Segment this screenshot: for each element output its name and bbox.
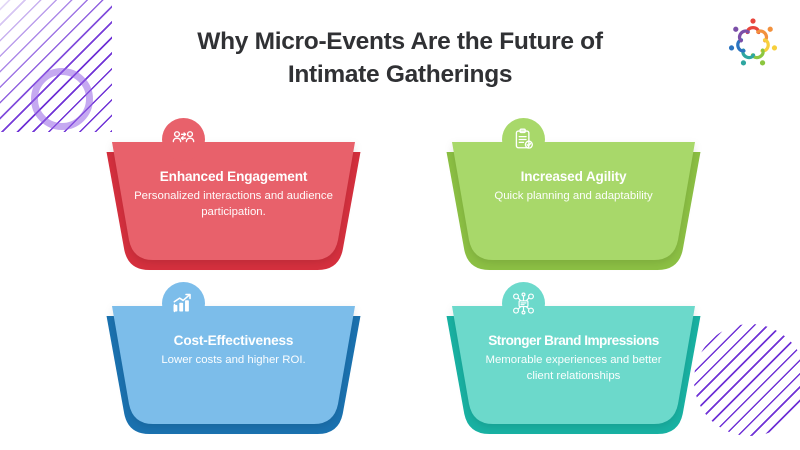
card-icon-badge — [502, 118, 545, 161]
infographic-canvas: Why Micro-Events Are the Future of Intim… — [0, 0, 800, 450]
card-description: Personalized interactions and audience p… — [132, 189, 335, 220]
page-title-line-2: Intimate Gatherings — [0, 59, 800, 92]
card-description: Quick planning and adaptability — [472, 189, 675, 205]
feature-card-increased-agility[interactable]: Increased Agility Quick planning and ada… — [452, 142, 695, 264]
card-icon-badge — [162, 282, 205, 325]
card-title: Enhanced Engagement — [132, 169, 335, 185]
clipboard-check-icon — [512, 128, 535, 151]
two-people-exchange-icon — [172, 128, 195, 151]
feature-card-cost-effectiveness[interactable]: Cost-Effectiveness Lower costs and highe… — [112, 306, 355, 428]
page-title: Why Micro-Events Are the Future of Intim… — [0, 26, 800, 91]
brand-network-icon — [512, 292, 535, 315]
page-title-line-1: Why Micro-Events Are the Future of — [0, 26, 800, 59]
card-description: Lower costs and higher ROI. — [132, 353, 335, 369]
card-title: Stronger Brand Impressions — [472, 333, 675, 349]
card-text: Increased Agility Quick planning and ada… — [452, 169, 695, 205]
card-icon-badge — [502, 282, 545, 325]
feature-card-stronger-brand-impressions[interactable]: Stronger Brand Impressions Memorable exp… — [452, 306, 695, 428]
card-text: Cost-Effectiveness Lower costs and highe… — [112, 333, 355, 369]
card-description: Memorable experiences and better client … — [472, 353, 675, 384]
card-icon-badge — [162, 118, 205, 161]
card-text: Stronger Brand Impressions Memorable exp… — [452, 333, 695, 385]
growth-bar-chart-icon — [172, 292, 195, 315]
diagonal-hatch-circle-bottom-right-decoration — [694, 324, 800, 436]
card-title: Cost-Effectiveness — [132, 333, 335, 349]
card-title: Increased Agility — [472, 169, 675, 185]
card-text: Enhanced Engagement Personalized interac… — [112, 169, 355, 221]
feature-card-enhanced-engagement[interactable]: Enhanced Engagement Personalized interac… — [112, 142, 355, 264]
